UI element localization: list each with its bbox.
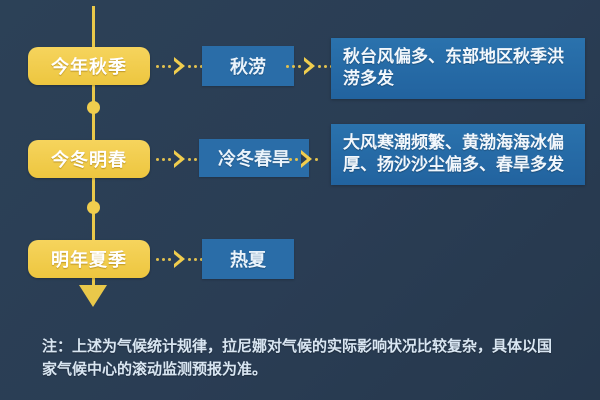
chevron-right-icon-3a	[174, 250, 185, 268]
timeline-row-2: 今冬明春 冷冬春旱 大风寒潮频繁、黄渤海海冰偏厚、扬沙沙尘偏多、春旱多发	[0, 133, 600, 185]
chevron-right-icon-2a	[174, 150, 185, 168]
stage-pill-1[interactable]: 今年秋季	[28, 47, 150, 85]
description-text-2: 大风寒潮频繁、黄渤海海冰偏厚、扬沙沙尘偏多、春旱多发	[343, 132, 573, 177]
term-label-1: 秋涝	[230, 53, 266, 79]
timeline-node-dot-1	[87, 101, 100, 114]
term-label-2: 冷冬春旱	[218, 145, 290, 171]
connector-dots-right-3a	[188, 258, 203, 261]
footnote-text: 注：上述为气候统计规律，拉尼娜对气候的实际影响状况比较复杂，具体以国家气候中心的…	[42, 336, 562, 381]
connector-dots-right-1a	[188, 65, 203, 68]
infographic-canvas: 今年秋季 秋涝 秋台风偏多、东部地区秋季洪涝多发 今冬明春 冷冬春	[0, 0, 600, 400]
description-panel-2[interactable]: 大风寒潮频繁、黄渤海海冰偏厚、扬沙沙尘偏多、春旱多发	[331, 124, 585, 185]
stage-pill-3[interactable]: 明年夏季	[28, 240, 150, 278]
connector-dots-right-2a	[188, 158, 197, 161]
chevron-right-icon-1a	[174, 57, 185, 75]
chevron-right-icon-2b	[301, 150, 312, 168]
term-chip-3[interactable]: 热夏	[202, 239, 294, 279]
term-chip-1[interactable]: 秋涝	[202, 46, 294, 86]
connector-1a	[156, 57, 203, 75]
timeline-node-dot-2	[87, 201, 100, 214]
description-panel-1[interactable]: 秋台风偏多、东部地区秋季洪涝多发	[331, 38, 585, 99]
stage-pill-2[interactable]: 今冬明春	[28, 140, 150, 178]
connector-dots-left-1b	[286, 65, 301, 68]
connector-dots-left-1a	[156, 65, 171, 68]
timeline-row-1: 今年秋季 秋涝 秋台风偏多、东部地区秋季洪涝多发	[0, 42, 600, 90]
stage-label-2: 今冬明春	[51, 146, 127, 172]
stage-label-3: 明年夏季	[51, 246, 127, 272]
connector-2b	[289, 150, 318, 168]
connector-3a	[156, 250, 203, 268]
timeline-arrow-down-icon	[79, 285, 107, 307]
connector-dots-left-2a	[156, 158, 171, 161]
connector-dots-left-2b	[289, 158, 298, 161]
connector-dots-right-2b	[315, 158, 318, 161]
connector-dots-left-3a	[156, 258, 171, 261]
description-text-1: 秋台风偏多、东部地区秋季洪涝多发	[343, 46, 573, 91]
chevron-right-icon-1b	[304, 57, 315, 75]
term-label-3: 热夏	[230, 246, 266, 272]
connector-1b	[286, 57, 333, 75]
stage-label-1: 今年秋季	[51, 53, 127, 79]
timeline-row-3: 明年夏季 热夏	[0, 235, 600, 283]
connector-2a	[156, 150, 197, 168]
